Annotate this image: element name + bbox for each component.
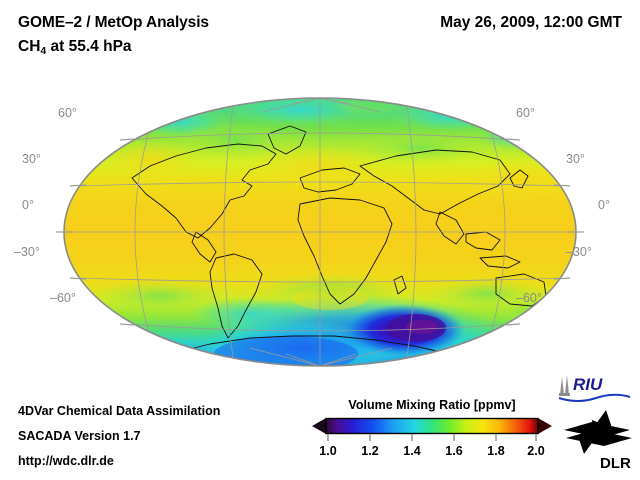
colorbar: Volume Mixing Ratio [ppmv]: [312, 398, 552, 460]
lat-label-60n-left: 60°: [58, 106, 77, 120]
sh-yellow-patch: [292, 286, 368, 310]
species-level: at 55.4 hPa: [46, 38, 131, 55]
colorbar-arrow-right: [538, 418, 552, 434]
colorbar-gradient: [326, 419, 538, 434]
tick-60n-left: [120, 139, 134, 140]
lat-label-60n-right: 60°: [516, 106, 535, 120]
header-left: GOME–2 / MetOp Analysis CH4 at 55.4 hPa: [18, 14, 209, 56]
nh-yellow-intrusion: [244, 144, 392, 188]
global-map: 60° 60° 30° 30° 0° 0° –30° –30° –60° –60…: [0, 82, 640, 382]
footer-line-url[interactable]: http://wdc.dlr.de: [18, 454, 114, 468]
species-label: CH: [18, 38, 40, 55]
riu-towers-icon: [559, 375, 570, 396]
nh-yellow-intrusion: [98, 140, 202, 180]
colorbar-tick-2: 1.2: [361, 444, 378, 458]
colorbar-tick-4: 1.6: [445, 444, 462, 458]
figure-canvas: GOME–2 / MetOp Analysis CH4 at 55.4 hPa …: [0, 0, 640, 480]
lat-label-0-left: 0°: [22, 198, 34, 212]
footer-line-method: 4DVar Chemical Data Assimilation: [18, 404, 220, 418]
colorbar-tick-1: 1.0: [319, 444, 336, 458]
species-subtitle: CH4 at 55.4 hPa: [18, 38, 209, 56]
tick-60s-right: [506, 324, 520, 325]
riu-logo-svg: RIU: [556, 373, 632, 403]
colorbar-arrow-left: [312, 418, 326, 434]
page-title: GOME–2 / MetOp Analysis: [18, 14, 209, 32]
colorbar-title: Volume Mixing Ratio [ppmv]: [312, 398, 552, 412]
lat-label-0-right: 0°: [598, 198, 610, 212]
riu-wordmark: RIU: [573, 375, 603, 394]
timestamp-label: May 26, 2009, 12:00 GMT: [440, 14, 622, 32]
lat-label-30n-left: 30°: [22, 152, 41, 166]
lat-label-30s-left: –30°: [14, 245, 40, 259]
coastline-new-zealand: [552, 304, 570, 320]
colorbar-tick-3: 1.4: [403, 444, 420, 458]
colorbar-tick-6: 2.0: [527, 444, 544, 458]
dlr-wordmark: DLR: [600, 455, 631, 472]
dlr-logo-svg: DLR: [562, 408, 634, 472]
riu-logo: RIU: [556, 373, 632, 408]
mollweide-map-svg: [0, 82, 640, 382]
lat-label-60s-right: –60°: [516, 291, 542, 305]
colorbar-tick-labels: 1.0 1.2 1.4 1.6 1.8 2.0: [312, 444, 552, 460]
tick-60s-left: [120, 324, 134, 325]
tick-60n-right: [506, 139, 520, 140]
footer-line-version: SACADA Version 1.7: [18, 429, 141, 443]
species-subscript: 4: [40, 45, 46, 57]
nh-yellow-intrusion: [464, 156, 576, 200]
colorbar-ticks: [328, 434, 536, 441]
data-field: [64, 92, 586, 376]
lat-label-30s-right: –30°: [566, 245, 592, 259]
colorbar-tick-5: 1.8: [487, 444, 504, 458]
lat-label-30n-right: 30°: [566, 152, 585, 166]
colorbar-swatch: [312, 417, 552, 443]
lat-label-60s-left: –60°: [50, 291, 76, 305]
arctic-cyan-patch: [476, 116, 564, 152]
dlr-logo: DLR: [562, 408, 634, 477]
dlr-mark-icon: [564, 410, 632, 454]
